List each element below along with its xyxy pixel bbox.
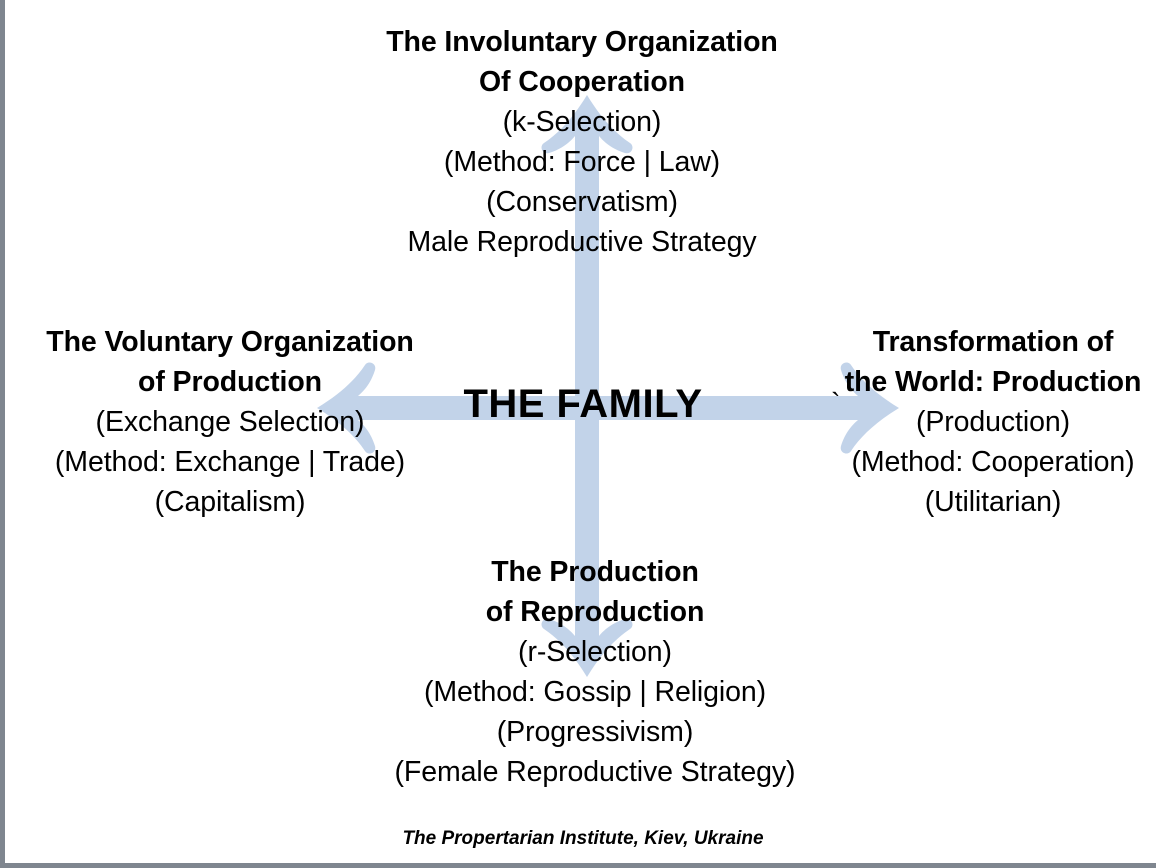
quadrant-left-heading-line-1: The Voluntary Organization xyxy=(5,322,455,362)
quadrant-bottom-detail-line-3: (Progressivism) xyxy=(335,712,855,752)
quadrant-left-detail-line-2: (Method: Exchange | Trade) xyxy=(5,442,455,482)
quadrant-left-detail-line-3: (Capitalism) xyxy=(5,482,455,522)
quadrant-top-heading-line-2: Of Cooperation xyxy=(4,62,1156,102)
center-label: THE FAMILY xyxy=(5,380,1156,428)
diagram-canvas: The Involuntary Organization Of Cooperat… xyxy=(0,0,1156,868)
quadrant-top-detail-line-3: (Conservatism) xyxy=(4,182,1156,222)
footer-attribution: The Propertarian Institute, Kiev, Ukrain… xyxy=(5,826,1156,852)
quadrant-top-detail-line-1: (k-Selection) xyxy=(4,102,1156,142)
quadrant-top-heading-line-1: The Involuntary Organization xyxy=(4,22,1156,62)
quadrant-bottom-detail-line-1: (r-Selection) xyxy=(335,632,855,672)
quadrant-top-detail-line-4: Male Reproductive Strategy xyxy=(4,222,1156,262)
quadrant-bottom-detail-line-2: (Method: Gossip | Religion) xyxy=(335,672,855,712)
quadrant-bottom-heading-line-1: The Production xyxy=(335,552,855,592)
quadrant-right-detail-line-2: (Method: Cooperation) xyxy=(825,442,1156,482)
quadrant-bottom-heading-line-2: of Reproduction xyxy=(335,592,855,632)
quadrant-bottom: The Production of Reproduction (r-Select… xyxy=(335,552,855,792)
quadrant-right-heading-line-1: Transformation of xyxy=(825,322,1156,362)
stray-backtick-mark: ` xyxy=(831,384,841,424)
quadrant-right-detail-line-3: (Utilitarian) xyxy=(825,482,1156,522)
quadrant-top-detail-line-2: (Method: Force | Law) xyxy=(4,142,1156,182)
quadrant-top: The Involuntary Organization Of Cooperat… xyxy=(4,22,1156,262)
quadrant-bottom-detail-line-4: (Female Reproductive Strategy) xyxy=(335,752,855,792)
